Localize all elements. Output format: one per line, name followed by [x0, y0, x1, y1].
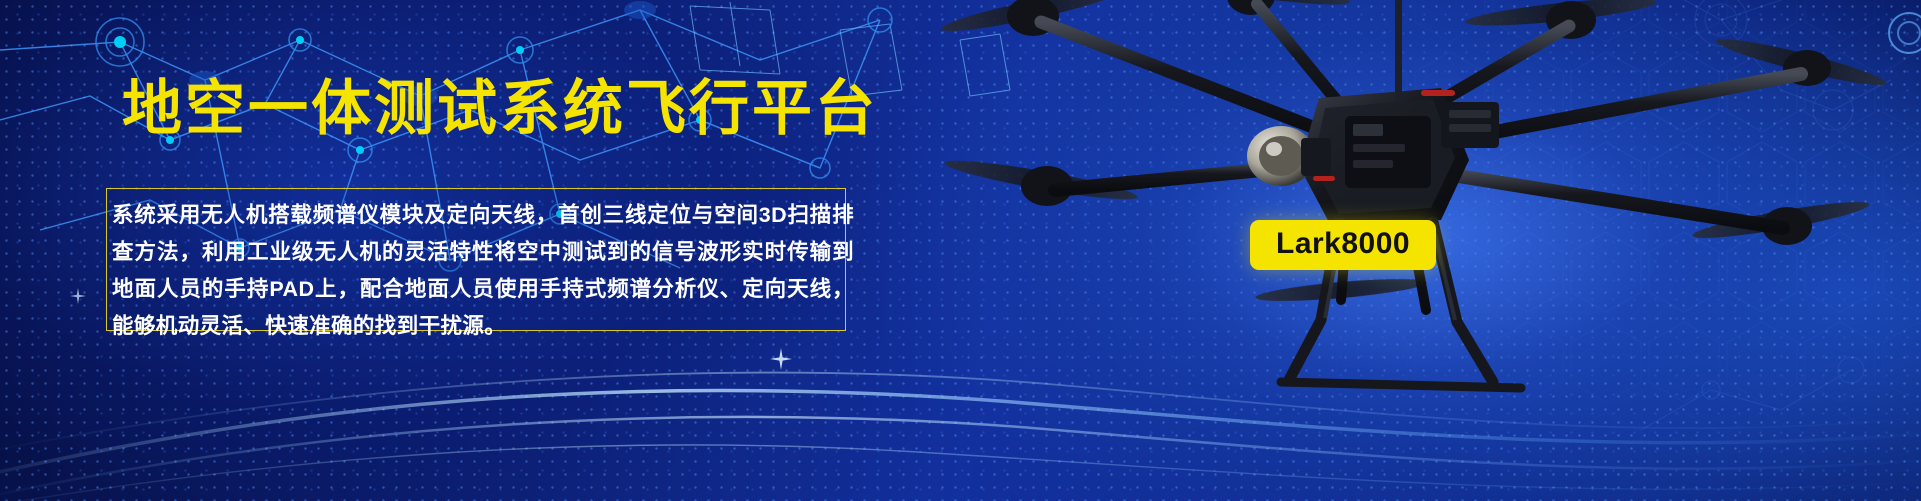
description-text: 系统采用无人机搭载频谱仪模块及定向天线，首创三线定位与空间3D扫描排查方法，利用… [112, 197, 854, 345]
ring-accent-icon [1886, 10, 1921, 56]
banner-headline: 地空一体测试系统飞行平台 [122, 76, 878, 142]
hexagon-circuit-pattern-icon [1021, 0, 1921, 501]
product-name-badge: Lark8000 [1250, 220, 1436, 270]
sparkle-icon [70, 288, 86, 304]
sparkle-icon [770, 348, 792, 370]
promotional-banner: 地空一体测试系统飞行平台 系统采用无人机搭载频谱仪模块及定向天线，首创三线定位与… [0, 0, 1921, 501]
